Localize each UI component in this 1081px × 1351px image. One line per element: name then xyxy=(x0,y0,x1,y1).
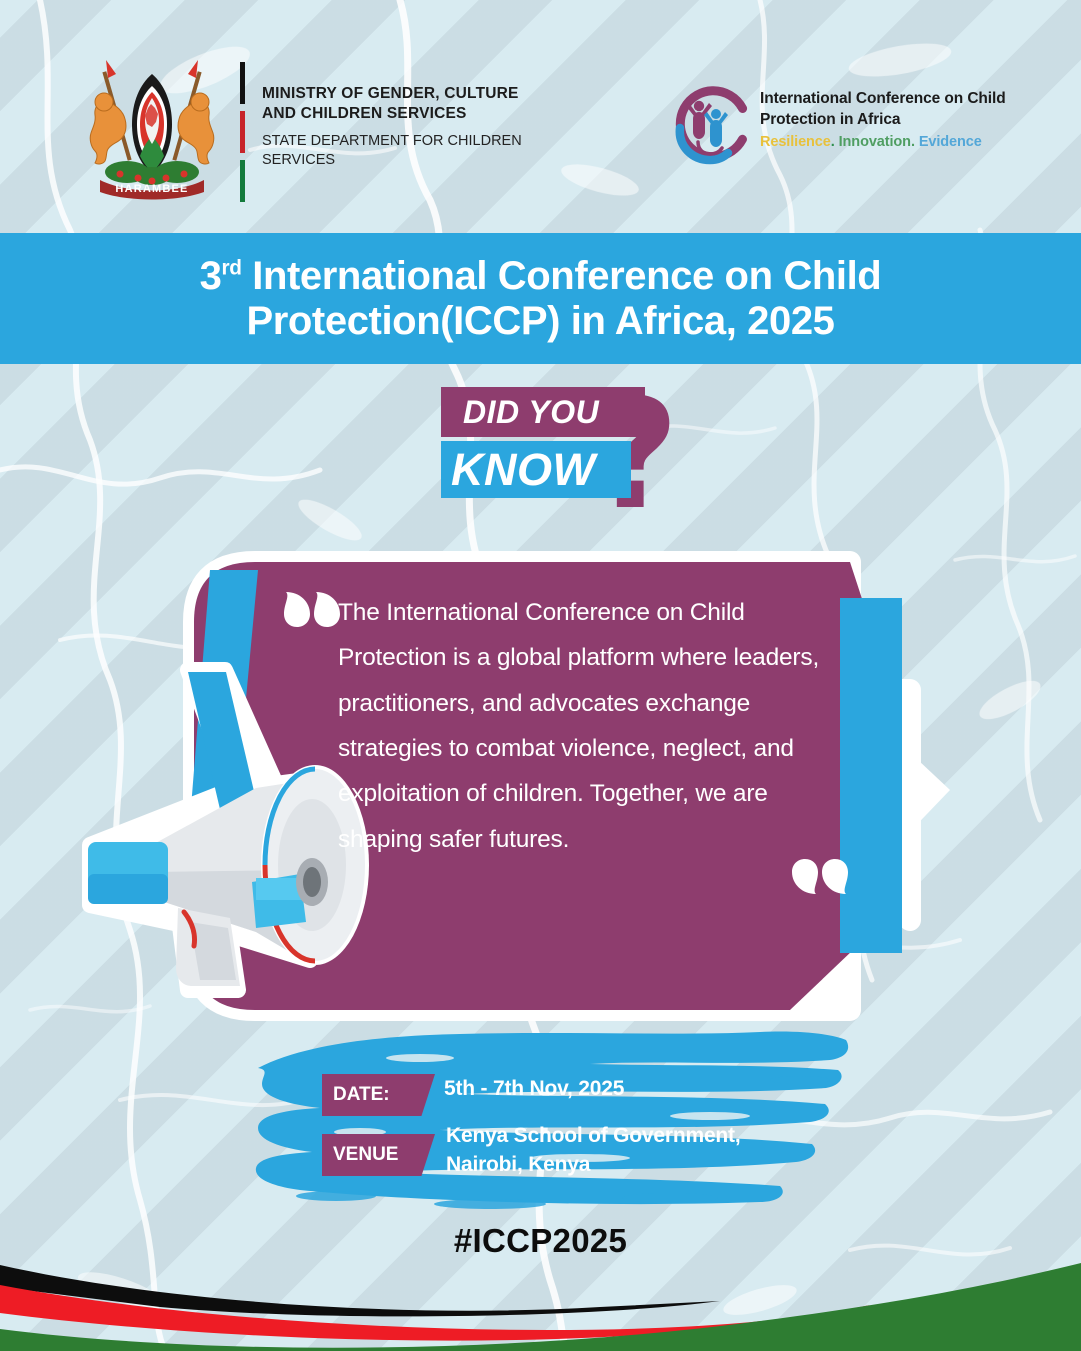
iccp-logo-icon xyxy=(668,76,748,166)
title-line1-rest: International Conference on Child xyxy=(242,254,882,298)
flag-bar-red xyxy=(240,111,245,153)
did-you-bar: DID YOU xyxy=(441,387,645,437)
ministry-name-line2: AND CHILDREN SERVICES xyxy=(262,104,562,124)
tagline-word-resilience: Resilience xyxy=(760,134,831,150)
kenya-coat-of-arms-icon: HARAMBEE xyxy=(82,52,222,202)
ministry-name-line1: MINISTRY OF GENDER, CULTURE xyxy=(262,84,562,104)
iccp-name-line1: International Conference on Child xyxy=(760,88,1060,109)
iccp-tagline: Resilience. Innovation. Evidence xyxy=(760,134,1060,150)
tagline-separator-2: . xyxy=(911,134,915,150)
did-you-know-block: ? DID YOU KNOW xyxy=(441,383,691,518)
kenya-flag-color-bars xyxy=(240,62,245,202)
kenya-flag-swoosh-footer xyxy=(0,1261,1081,1351)
event-details-block: DATE: VENUE 5th - 7th Nov, 2025 Kenya Sc… xyxy=(240,1020,860,1220)
quote-close-icon xyxy=(790,858,852,900)
title-ordinal-suffix: rd xyxy=(222,256,242,279)
date-label: DATE: xyxy=(333,1084,390,1106)
date-label-tag: DATE: xyxy=(322,1074,435,1116)
did-you-label: DID YOU xyxy=(463,394,599,431)
date-value: 5th - 7th Nov, 2025 xyxy=(444,1077,624,1101)
tagline-word-evidence: Evidence xyxy=(919,134,982,150)
venue-value: Kenya School of Government, Nairobi, Ken… xyxy=(446,1122,741,1180)
know-label: KNOW xyxy=(451,444,595,496)
department-line1: STATE DEPARTMENT FOR CHILDREN xyxy=(262,132,562,151)
quote-text: The International Conference on Child Pr… xyxy=(338,590,858,862)
flag-bar-green xyxy=(240,160,245,202)
poster-header: HARAMBEE MINISTRY OF GENDER, CULTURE AND… xyxy=(0,0,1081,232)
know-bar: KNOW xyxy=(441,441,631,498)
tagline-word-innovation: Innovation xyxy=(839,134,911,150)
conference-title-banner: 3rd International Conference on Child Pr… xyxy=(0,233,1081,364)
iccp-text-block: International Conference on Child Protec… xyxy=(760,88,1060,150)
venue-label-tag: VENUE xyxy=(322,1134,435,1176)
flag-bar-black xyxy=(240,62,245,104)
poster-root: HARAMBEE MINISTRY OF GENDER, CULTURE AND… xyxy=(0,0,1081,1351)
quote-open-icon xyxy=(282,586,344,628)
conference-title-line1: 3rd International Conference on Child xyxy=(200,254,882,299)
tagline-separator-1: . xyxy=(831,134,835,150)
ministry-text-block: MINISTRY OF GENDER, CULTURE AND CHILDREN… xyxy=(262,84,562,170)
title-ordinal-number: 3 xyxy=(200,254,222,298)
iccp-name-line2: Protection in Africa xyxy=(760,109,1060,130)
department-line2: SERVICES xyxy=(262,151,562,170)
blue-brush-stroke xyxy=(240,1020,860,1220)
event-hashtag: #ICCP2025 xyxy=(0,1222,1081,1260)
coat-of-arms-motto: HARAMBEE xyxy=(115,183,188,195)
venue-value-line1: Kenya School of Government, xyxy=(446,1122,741,1151)
conference-title-line2: Protection(ICCP) in Africa, 2025 xyxy=(246,299,834,344)
venue-value-line2: Nairobi, Kenya xyxy=(446,1151,741,1180)
venue-label: VENUE xyxy=(333,1144,398,1166)
